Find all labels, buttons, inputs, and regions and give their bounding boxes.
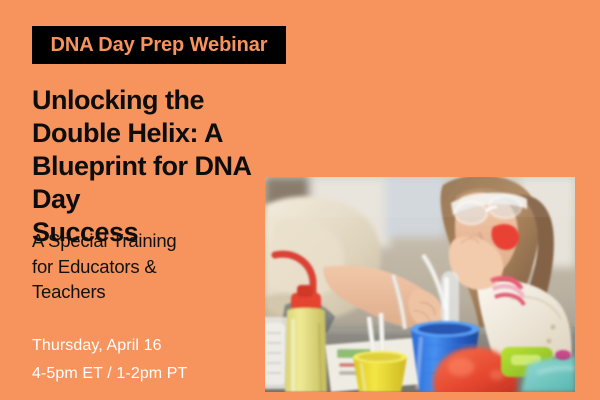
headline-line-2: Blueprint for DNA Day [32, 150, 264, 216]
subtitle-line-2: for Educators & [32, 254, 252, 280]
badge-label: DNA Day Prep Webinar [51, 35, 268, 55]
subtitle-line-1: A Special Training [32, 228, 252, 254]
event-date: Thursday, April 16 [32, 332, 262, 360]
lab-photo [265, 177, 575, 392]
webinar-category-badge: DNA Day Prep Webinar [32, 26, 286, 64]
event-schedule: Thursday, April 16 4-5pm ET / 1-2pm PT [32, 332, 262, 388]
headline-line-1: Unlocking the Double Helix: A [32, 84, 264, 150]
page-title: Unlocking the Double Helix: A Blueprint … [32, 84, 264, 249]
subtitle: A Special Training for Educators & Teach… [32, 228, 252, 305]
lab-photo-illustration [265, 177, 575, 392]
webinar-promo-canvas: DNA Day Prep Webinar Unlocking the Doubl… [0, 0, 600, 400]
event-time: 4-5pm ET / 1-2pm PT [32, 360, 262, 388]
subtitle-line-3: Teachers [32, 279, 252, 305]
